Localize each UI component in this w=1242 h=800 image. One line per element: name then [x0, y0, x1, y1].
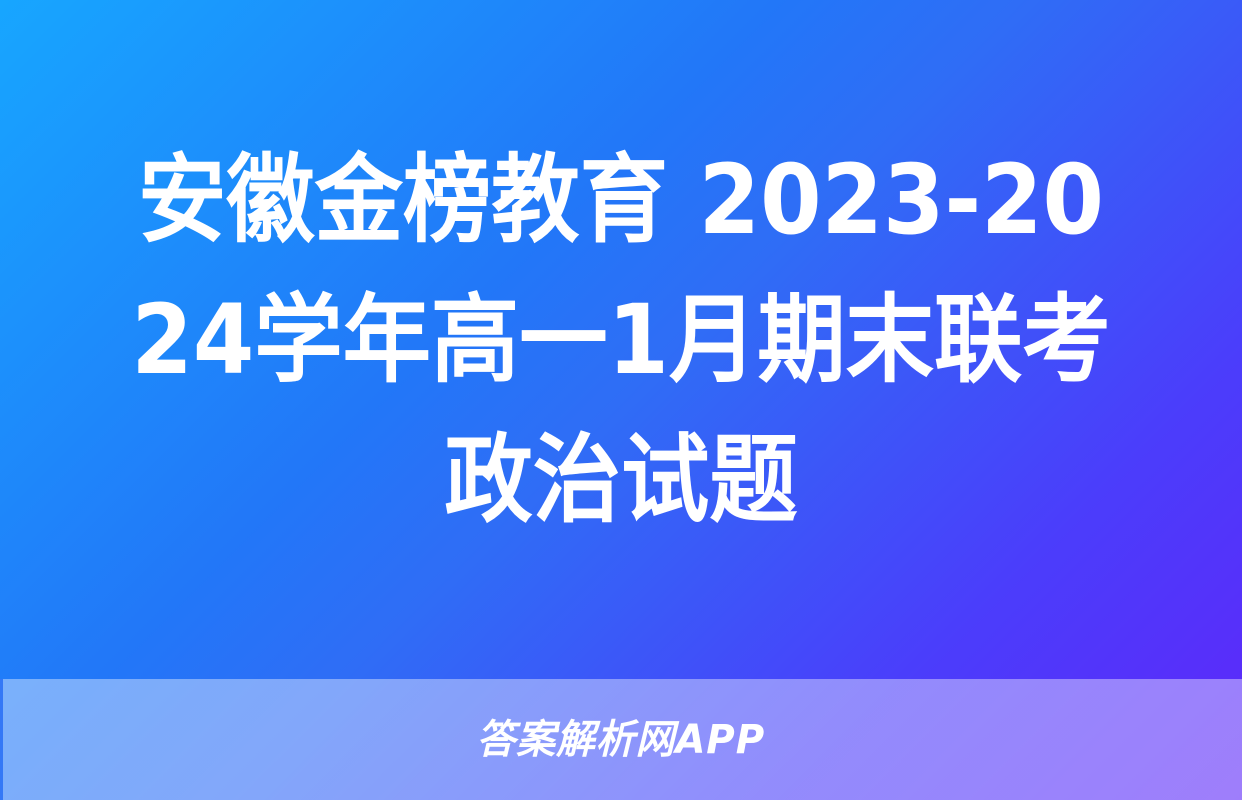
poster-title-block: 安徽金榜教育 2023-2024学年高一1月期末联考政治试题	[0, 0, 1242, 680]
page-title: 安徽金榜教育 2023-2024学年高一1月期末联考政治试题	[116, 130, 1126, 550]
poster-card: 安徽金榜教育 2023-2024学年高一1月期末联考政治试题 答案解析网APP	[0, 0, 1242, 800]
footer-brand-band: 答案解析网APP	[0, 679, 1242, 800]
app-brand-label: 答案解析网APP	[477, 720, 766, 760]
